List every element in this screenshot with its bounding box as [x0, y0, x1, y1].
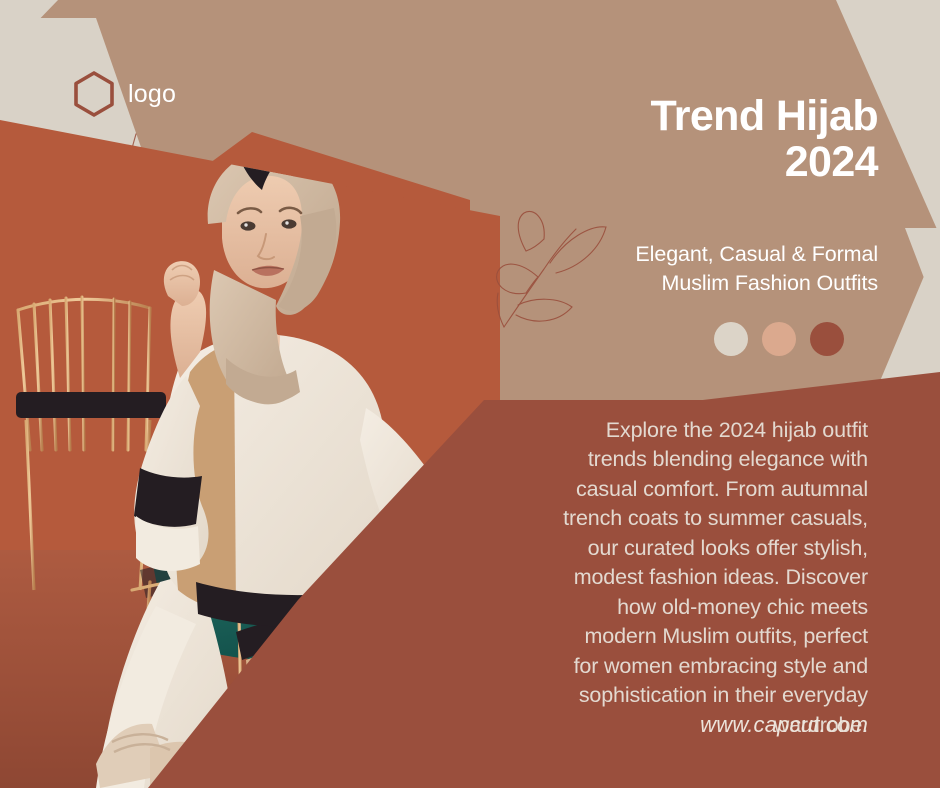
swatch-peach[interactable] — [762, 322, 796, 356]
page-subtitle-line-1: Elegant, Casual & Formal — [540, 240, 878, 269]
body-line: modern Muslim outfits, perfect — [512, 622, 868, 651]
body-line: sophistication in their everyday — [512, 681, 868, 710]
swatch-terracotta[interactable] — [810, 322, 844, 356]
swatch-cream[interactable] — [714, 322, 748, 356]
body-paragraph: Explore the 2024 hijab outfit trends ble… — [512, 416, 868, 740]
page-subtitle: Elegant, Casual & Formal Muslim Fashion … — [540, 240, 878, 298]
body-line: how old-money chic meets — [512, 593, 868, 622]
body-line: Explore the 2024 hijab outfit — [512, 416, 868, 445]
page-title-line-1: Trend Hijab — [560, 93, 878, 139]
body-line: trench coats to summer casuals, — [512, 504, 868, 533]
color-swatch-group — [714, 322, 844, 356]
page-title-line-2: 2024 — [560, 139, 878, 185]
poster-canvas: logo Trend Hijab 2024 Elegant, Casual & … — [0, 0, 940, 788]
body-line: casual comfort. From autumnal — [512, 475, 868, 504]
body-line: for women embracing style and — [512, 652, 868, 681]
body-line: trends blending elegance with — [512, 445, 868, 474]
logo-text: logo — [128, 82, 176, 107]
body-line: our curated looks offer stylish, — [512, 534, 868, 563]
logo[interactable]: logo — [72, 70, 176, 118]
page-title: Trend Hijab 2024 — [560, 93, 878, 186]
hexagon-outline-icon — [72, 70, 116, 118]
website-url[interactable]: www.capcut.com — [512, 712, 868, 738]
page-subtitle-line-2: Muslim Fashion Outfits — [540, 269, 878, 298]
body-line: modest fashion ideas. Discover — [512, 563, 868, 592]
